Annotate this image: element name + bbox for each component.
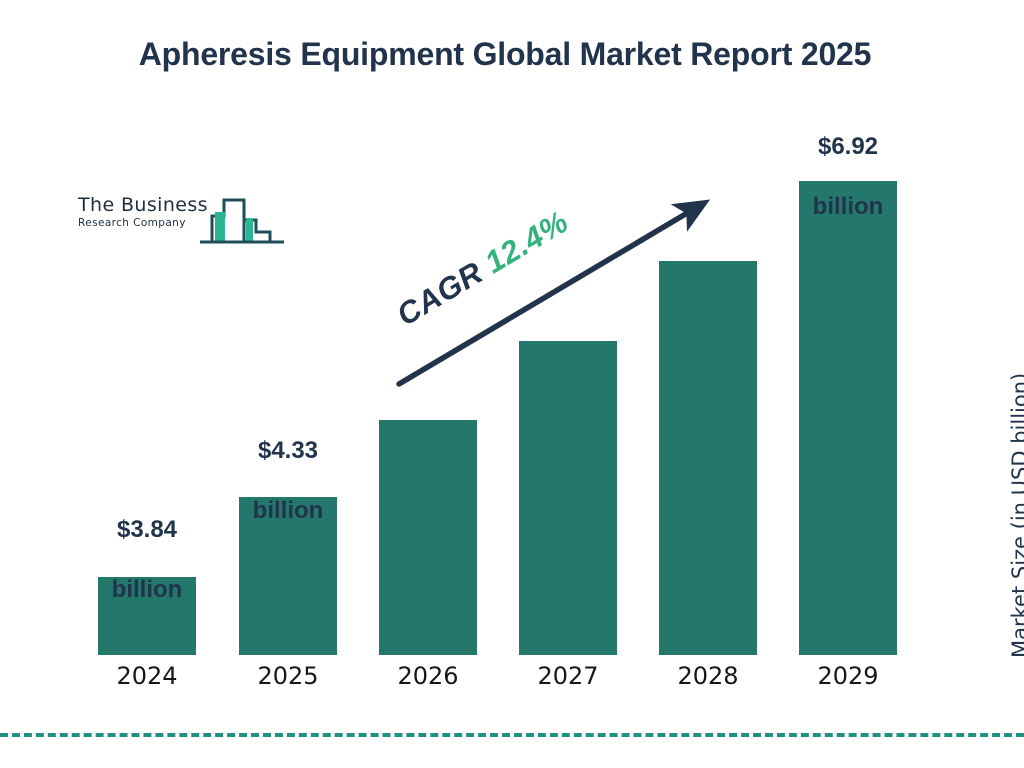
x-tick-2025: 2025 [239, 662, 337, 690]
bar-value-label-2029: $6.92 billion [791, 102, 905, 252]
bar-2028 [659, 261, 757, 655]
bar-2026 [379, 420, 477, 655]
plot-area: $3.84 billion $4.33 billion $6.92 billio… [0, 0, 1024, 768]
chart-canvas: Apheresis Equipment Global Market Report… [0, 0, 1024, 768]
bar-value-label-2024: $3.84 billion [90, 485, 204, 635]
bar-2029 [799, 181, 897, 655]
bar-value-amount-2029: $6.92 [791, 132, 905, 162]
x-tick-2024: 2024 [98, 662, 196, 690]
x-tick-2029: 2029 [799, 662, 897, 690]
bar-value-label-2025: $4.33 billion [231, 406, 345, 556]
y-axis-title: Market Size (in USD billion) [1008, 328, 1024, 658]
bar-value-amount-2024: $3.84 [90, 515, 204, 545]
bar-value-unit-2025: billion [231, 496, 345, 526]
x-tick-2027: 2027 [519, 662, 617, 690]
footer-divider [0, 733, 1024, 737]
bar-value-unit-2029: billion [791, 192, 905, 222]
x-tick-2026: 2026 [379, 662, 477, 690]
x-tick-2028: 2028 [659, 662, 757, 690]
bar-2027 [519, 341, 617, 655]
bar-value-amount-2025: $4.33 [231, 436, 345, 466]
bar-value-unit-2024: billion [90, 575, 204, 605]
